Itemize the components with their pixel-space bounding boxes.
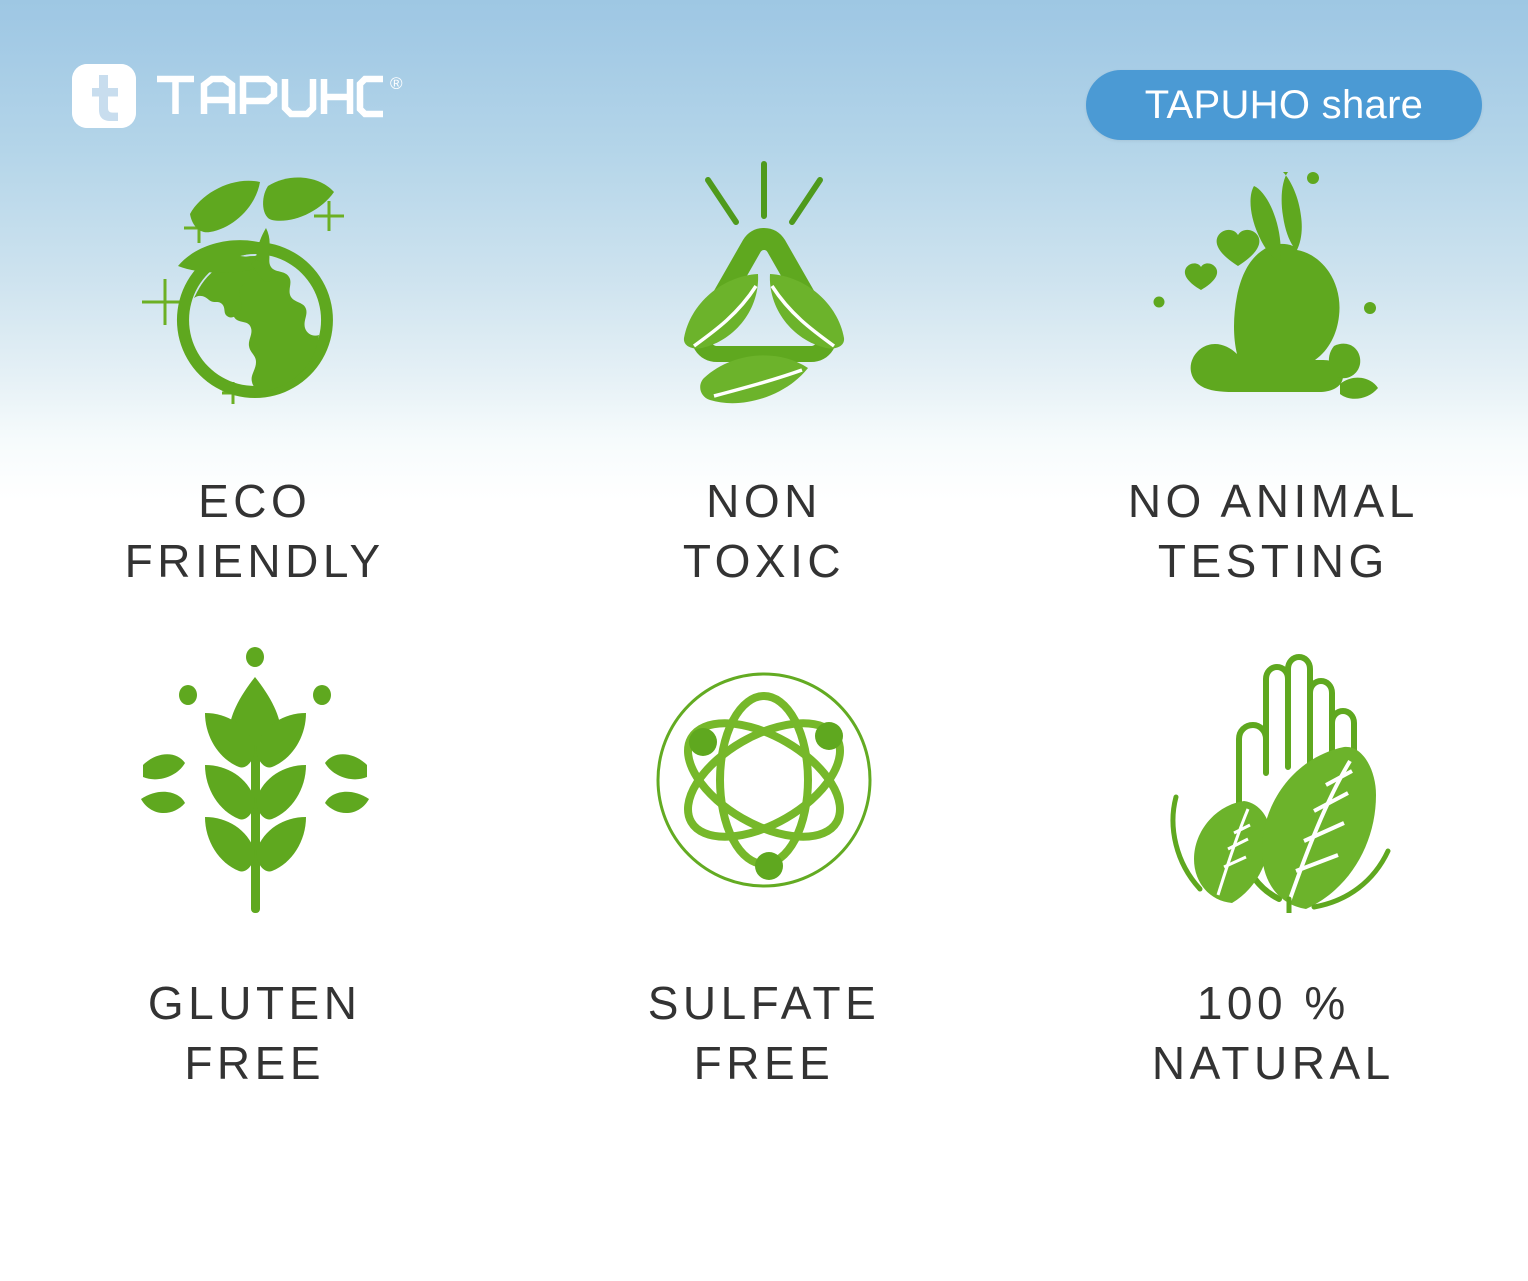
recycle-triangle-leaves-icon <box>624 150 904 450</box>
badge-gluten-free[interactable]: GLUTEN FREE <box>0 620 509 1140</box>
badge-label-sulfate-free: SULFATE FREE <box>648 974 881 1094</box>
badge-label-gluten-free: GLUTEN FREE <box>148 974 362 1094</box>
badge-eco-friendly[interactable]: ECO FRIENDLY <box>0 150 509 620</box>
badge-grid: ECO FRIENDLY <box>0 150 1528 1140</box>
logo-wordmark: ® <box>154 73 403 119</box>
badge-non-toxic[interactable]: NON TOXIC <box>509 150 1018 620</box>
page-header: ® TAPUHO share <box>0 0 1528 170</box>
atom-molecule-icon <box>644 638 884 928</box>
registered-mark: ® <box>390 75 403 92</box>
brand-logo[interactable]: ® <box>72 64 403 128</box>
rabbit-hearts-icon <box>1138 150 1408 450</box>
tapuho-share-button[interactable]: TAPUHO share <box>1086 70 1482 140</box>
badge-sulfate-free[interactable]: SULFATE FREE <box>509 620 1018 1140</box>
product-badges-page: ® TAPUHO share <box>0 0 1528 1281</box>
globe-leaf-sparkle-icon <box>120 150 390 450</box>
badge-label-non-toxic: NON TOXIC <box>683 472 845 592</box>
hand-leaves-icon <box>1148 638 1398 928</box>
badge-label-no-animal-testing: NO ANIMAL TESTING <box>1128 472 1419 592</box>
logo-badge-icon <box>72 64 136 128</box>
badge-100-natural[interactable]: 100 % NATURAL <box>1019 620 1528 1140</box>
wheat-stalk-icon <box>135 638 375 928</box>
badge-label-100-natural: 100 % NATURAL <box>1152 974 1395 1094</box>
badge-no-animal-testing[interactable]: NO ANIMAL TESTING <box>1019 150 1528 620</box>
badge-label-eco-friendly: ECO FRIENDLY <box>125 472 385 592</box>
